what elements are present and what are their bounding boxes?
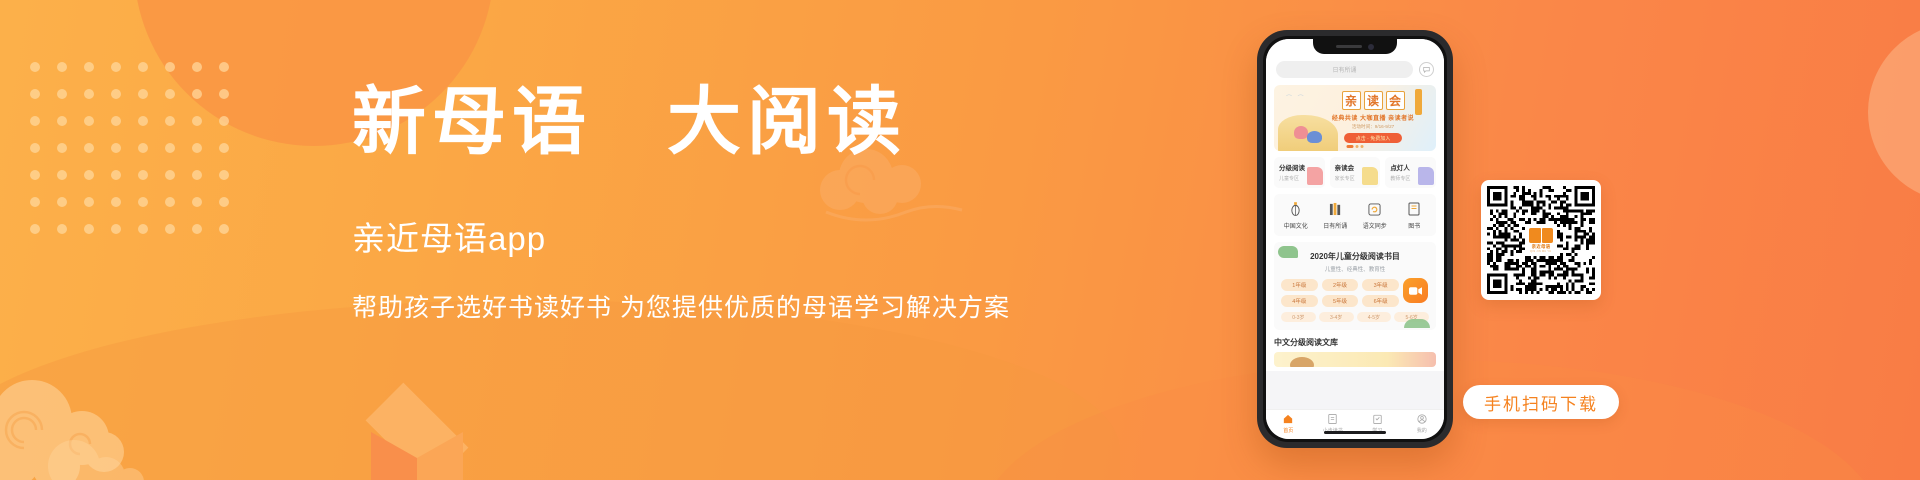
quick-link-label: 语文同步 (1355, 221, 1395, 230)
leaf-decor-icon (1404, 319, 1430, 328)
play-video-button[interactable] (1403, 278, 1428, 303)
tab-reading[interactable]: 小步读书 (1311, 413, 1356, 439)
lantern-icon (1276, 201, 1316, 217)
hero-title-char-2: 读 (1364, 91, 1383, 110)
qr-code[interactable]: 亲近母语 QIN JIN MU YU (1487, 186, 1595, 294)
quick-link-label: 中国文化 (1276, 221, 1316, 230)
phone-notch (1313, 39, 1397, 54)
category-card-fenji[interactable]: 分级阅读 儿童专区 (1274, 157, 1325, 188)
tagline: 帮助孩子选好书读好书 为您提供优质的母语学习解决方案 (352, 288, 1052, 324)
logo-title: 亲近母语 (1532, 244, 1551, 250)
grade-chips: 1年级 2年级 3年级 4年级 5年级 6年级 (1281, 279, 1399, 307)
age-chip[interactable]: 3-4岁 (1319, 312, 1354, 322)
phone-screen: 日有所诵 ⌒ ⌒ 亲 (1266, 39, 1444, 439)
message-icon[interactable] (1419, 62, 1434, 77)
decorative-hill-left (0, 300, 1120, 480)
library-title: 中文分级阅读文库 (1274, 337, 1436, 348)
card-shape-icon (1362, 167, 1378, 185)
books-icon (1316, 201, 1356, 217)
search-input[interactable]: 日有所诵 (1276, 61, 1413, 78)
hero-date: 活动时间：9/16-9/27 (1314, 124, 1432, 130)
decorative-dot-grid (30, 62, 246, 251)
download-button[interactable]: 手机扫码下载 (1463, 385, 1619, 419)
user-icon (1400, 413, 1445, 425)
card-shape-icon (1418, 167, 1434, 185)
category-card-qinduhui[interactable]: 亲读会 家长专区 (1330, 157, 1381, 188)
list-icon (1311, 413, 1356, 425)
bottom-tabbar: 首页 小步读书 学习 (1266, 409, 1444, 439)
phone-bezel: 日有所诵 ⌒ ⌒ 亲 (1263, 36, 1447, 442)
hero-title-char-1: 亲 (1342, 91, 1361, 110)
decorative-cube (352, 404, 482, 480)
quick-link-zhongguowenhua[interactable]: 中国文化 (1276, 201, 1316, 230)
hero-title: 亲 读 会 (1314, 91, 1432, 110)
decorative-circle-right (1868, 22, 1920, 202)
camera-icon (1368, 44, 1374, 50)
sync-icon (1355, 201, 1395, 217)
tab-study[interactable]: 学习 (1355, 413, 1400, 439)
home-icon (1266, 413, 1311, 425)
card-shape-icon (1307, 167, 1323, 185)
grade-chip[interactable]: 1年级 (1281, 279, 1318, 291)
grade-chip[interactable]: 5年级 (1322, 295, 1359, 307)
brand-logo: 亲近母语 QIN JIN MU YU (1525, 224, 1557, 256)
booklist-subtitle: 儿童性、经典性、教育性 (1281, 265, 1429, 273)
hero-banner[interactable]: ⌒ ⌒ 亲 读 会 经典共读 大咖直播 亲读者说 活动 (1274, 85, 1436, 151)
category-card-diandengren[interactable]: 点灯人 教师专区 (1385, 157, 1436, 188)
qr-code-card: 亲近母语 QIN JIN MU YU (1481, 180, 1601, 300)
booklist-title: 2020年儿童分级阅读书目 (1281, 251, 1429, 262)
home-indicator (1324, 431, 1386, 434)
booklist-section: 2020年儿童分级阅读书目 儿童性、经典性、教育性 1年级 2年级 3年级 4年… (1274, 242, 1436, 330)
quick-link-label: 图书 (1395, 221, 1435, 230)
carousel-dots[interactable] (1347, 145, 1364, 148)
category-cards: 分级阅读 儿童专区 亲读会 家长专区 点灯人 教师专区 (1274, 157, 1436, 188)
grade-chip[interactable]: 2年级 (1322, 279, 1359, 291)
age-chip[interactable]: 0-3岁 (1281, 312, 1316, 322)
app-name: 亲近母语app (352, 212, 1052, 260)
library-section: 中文分级阅读文库 (1274, 337, 1436, 367)
birds-icon: ⌒ ⌒ (1286, 93, 1306, 102)
headline-part-2: 大阅读 (667, 82, 907, 164)
banner-copy: 新母语 大阅读 亲近母语app 帮助孩子选好书读好书 为您提供优质的母语学习解决… (352, 86, 1052, 324)
age-chip[interactable]: 4-5岁 (1357, 312, 1392, 322)
speaker-icon (1336, 45, 1362, 48)
book-logo-icon (1529, 228, 1553, 243)
headline-part-1: 新母语 (352, 82, 592, 164)
phone-mockup: 日有所诵 ⌒ ⌒ 亲 (1257, 30, 1453, 448)
promo-banner: 新母语 大阅读 亲近母语app 帮助孩子选好书读好书 为您提供优质的母语学习解决… (0, 0, 1920, 480)
quick-link-yuwentongbu[interactable]: 语文同步 (1355, 201, 1395, 230)
tab-label: 我的 (1400, 427, 1445, 434)
page-title: 新母语 大阅读 (352, 86, 1052, 160)
app-body: ⌒ ⌒ 亲 读 会 经典共读 大咖直播 亲读者说 活动 (1266, 85, 1444, 371)
hero-subtitle: 经典共读 大咖直播 亲读者说 (1314, 113, 1432, 122)
quick-link-riyousuosong[interactable]: 日有所诵 (1316, 201, 1356, 230)
book-icon (1395, 201, 1435, 217)
grade-chip[interactable]: 6年级 (1362, 295, 1399, 307)
quick-link-tushu[interactable]: 图书 (1395, 201, 1435, 230)
grade-chip[interactable]: 3年级 (1362, 279, 1399, 291)
quick-links: 中国文化 日有所诵 语文同步 (1274, 194, 1436, 236)
hero-join-button[interactable]: 点击 · 免费加入 (1344, 133, 1402, 143)
illustration-child-1 (1294, 126, 1308, 139)
clipboard-icon (1355, 413, 1400, 425)
hero-title-char-3: 会 (1386, 91, 1405, 110)
tab-home[interactable]: 首页 (1266, 413, 1311, 439)
grade-chip[interactable]: 4年级 (1281, 295, 1318, 307)
tab-profile[interactable]: 我的 (1400, 413, 1445, 439)
hero-content: 亲 读 会 经典共读 大咖直播 亲读者说 活动时间：9/16-9/27 点击 ·… (1314, 91, 1432, 143)
library-banner[interactable] (1274, 352, 1436, 367)
quick-link-label: 日有所诵 (1316, 221, 1356, 230)
logo-subtitle: QIN JIN MU YU (1530, 250, 1551, 253)
decorative-cloud-left-small-icon (44, 430, 154, 480)
tab-label: 首页 (1266, 427, 1311, 434)
